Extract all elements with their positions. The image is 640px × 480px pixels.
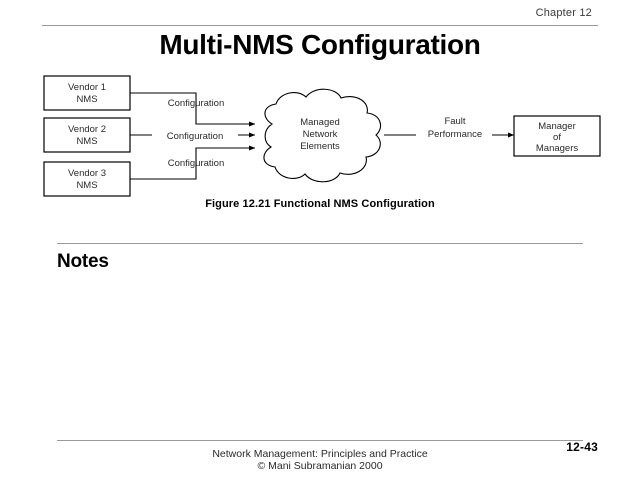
header-divider: [42, 25, 598, 26]
vendor-2-nms-label-line1: Vendor 2: [68, 124, 106, 135]
slide: Chapter 12 Multi-NMS Configuration Vendo…: [0, 0, 640, 480]
page-number: 12-43: [566, 440, 598, 454]
vendor-2-nms-label-line2: NMS: [76, 136, 97, 147]
edge-label-configuration-2: Configuration: [167, 131, 224, 142]
cloud-label-line2: Network: [303, 129, 338, 140]
footer-divider: [57, 440, 583, 441]
edge-label-performance: Performance: [428, 129, 482, 140]
notes-divider: [57, 243, 583, 244]
managed-network-elements-cloud: Managed Network Elements: [264, 89, 381, 182]
vendor-3-nms-label-line2: NMS: [76, 180, 97, 191]
vendor-2-nms-box: Vendor 2 NMS: [44, 118, 130, 152]
chapter-label: Chapter 12: [536, 7, 592, 19]
footer-credit-line-2: © Mani Subramanian 2000: [0, 460, 640, 472]
vendor-3-nms-label-line1: Vendor 3: [68, 168, 106, 179]
figure-caption: Figure 12.21 Functional NMS Configuratio…: [0, 198, 640, 210]
mom-label-line2: of: [553, 132, 561, 143]
edge-label-fault: Fault: [444, 116, 465, 127]
vendor-3-nms-box: Vendor 3 NMS: [44, 162, 130, 196]
mom-label-line3: Managers: [536, 143, 578, 154]
mom-label-line1: Manager: [538, 121, 576, 132]
vendor-1-nms-label-line1: Vendor 1: [68, 82, 106, 93]
cloud-label-line1: Managed: [300, 117, 340, 128]
nms-configuration-diagram: Vendor 1 NMS Vendor 2 NMS Vendor 3 NMS: [0, 62, 640, 212]
edge-label-configuration-3: Configuration: [168, 158, 225, 169]
manager-of-managers-box: Manager of Managers: [514, 116, 600, 156]
vendor-1-nms-label-line2: NMS: [76, 94, 97, 105]
footer-credit: Network Management: Principles and Pract…: [0, 448, 640, 472]
cloud-label-line3: Elements: [300, 141, 340, 152]
notes-body: [57, 280, 583, 430]
vendor-1-nms-box: Vendor 1 NMS: [44, 76, 130, 110]
footer-credit-line-1: Network Management: Principles and Pract…: [0, 448, 640, 460]
page-title: Multi-NMS Configuration: [0, 29, 640, 61]
notes-heading: Notes: [57, 251, 109, 273]
edge-label-configuration-1: Configuration: [168, 98, 225, 109]
